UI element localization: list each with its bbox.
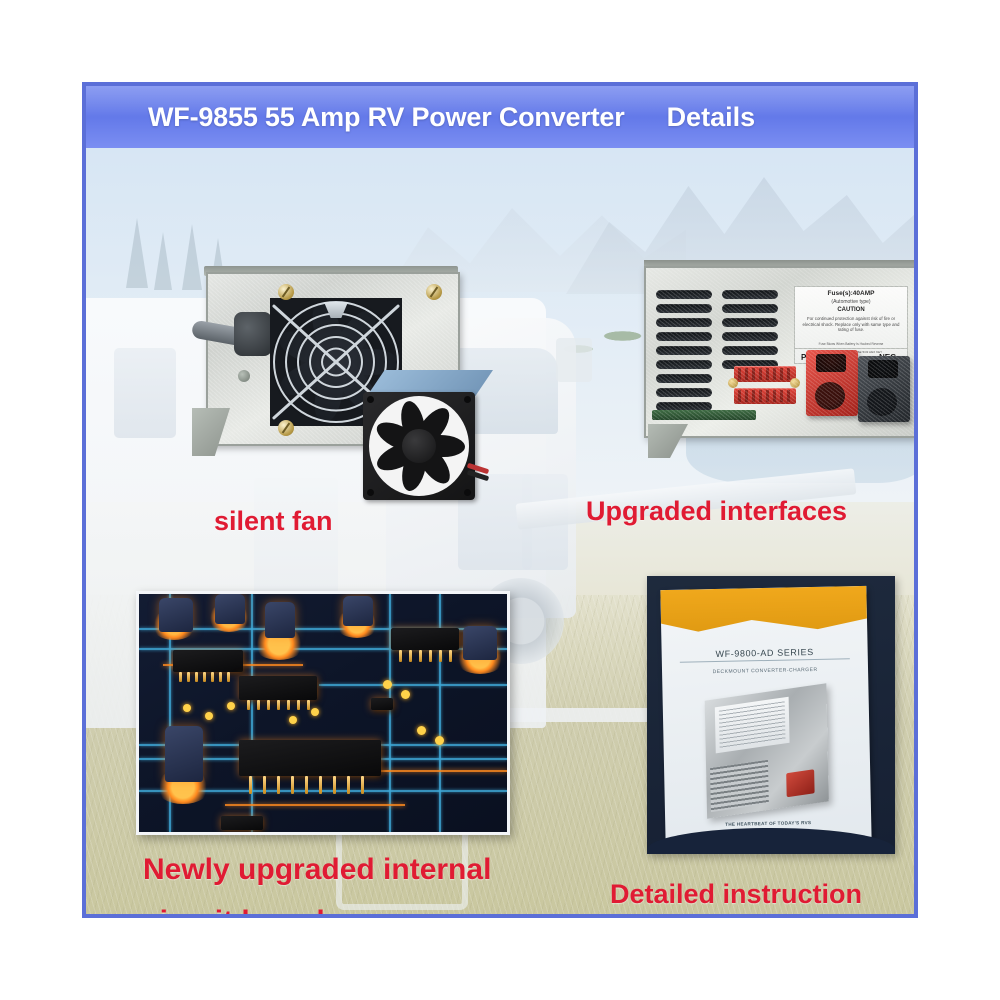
vent-slot — [722, 346, 778, 355]
manual-product-vents — [710, 760, 769, 812]
fuse-block — [734, 388, 796, 404]
fan-hub — [402, 429, 436, 463]
fan-screw-hole — [367, 489, 374, 496]
manual-product-image — [705, 683, 829, 819]
pcb-pin — [249, 776, 252, 794]
caution-body-text: For continued protection against risk of… — [800, 316, 902, 333]
manual-header-band — [660, 586, 867, 634]
terminal-top-opening — [868, 360, 898, 378]
pcb-chip — [239, 740, 381, 776]
pcb-pin — [347, 776, 350, 794]
pcb-pin — [361, 776, 364, 794]
pcb-capacitor — [159, 598, 193, 632]
pcb-pin — [219, 672, 222, 682]
pcb-pad — [289, 716, 297, 724]
pcb-pin — [203, 672, 206, 682]
vent-slot — [656, 388, 712, 397]
vent-slot — [656, 346, 712, 355]
pcb-pin — [277, 700, 280, 710]
header-sheen — [86, 86, 914, 117]
pcb-pin — [267, 700, 270, 710]
pcb-pin — [449, 650, 452, 662]
pcb-pad — [205, 712, 213, 720]
screw — [278, 420, 294, 436]
fan-rotor — [369, 396, 469, 496]
vent-slot — [722, 318, 778, 327]
vent-slot — [656, 374, 712, 383]
fuse-type-text: (Automotive type) — [795, 299, 907, 305]
indicator-dot — [238, 370, 250, 382]
fan-screw-hole — [367, 396, 374, 403]
pcb-pin — [333, 776, 336, 794]
terminal-lug-opening — [815, 382, 845, 410]
pcb-pin — [211, 672, 214, 682]
terminal-lug-opening — [867, 388, 897, 416]
fuse-terminal-screw — [790, 378, 800, 388]
cord-grommet — [234, 312, 272, 356]
pcb-pin — [419, 650, 422, 662]
mounting-bracket — [648, 424, 688, 458]
silent-fan-photo — [363, 370, 493, 502]
vent-slot — [722, 360, 778, 369]
pcb-chip — [371, 698, 393, 710]
fuse-fine-print: Fuse Blows When Battery Is Hooked Revers… — [795, 342, 907, 346]
positive-terminal — [806, 350, 858, 416]
vent-slot — [722, 290, 778, 299]
pcb-pin — [195, 672, 198, 682]
pos-terminal-label: POS+ — [801, 353, 823, 362]
pcb-pin — [187, 672, 190, 682]
ground-strip — [652, 410, 756, 420]
pcb-capacitor — [463, 626, 497, 660]
fuse-rating-text: Fuse(s):40AMP — [795, 290, 907, 297]
pcb-pad — [401, 690, 410, 699]
pcb-chip — [239, 676, 317, 700]
caption-circuit-board-line1: Newly upgraded internal — [143, 853, 491, 887]
manual-tagline: THE HEARTBEAT OF TODAY'S RVS — [665, 819, 871, 828]
spec-label: Fuse(s):40AMP (Automotive type) CAUTION … — [794, 286, 908, 364]
manual-product-terminal — [786, 769, 814, 797]
pcb-pin — [429, 650, 432, 662]
caution-text: CAUTION — [795, 307, 907, 313]
caption-circuit-board-line2: circuit board — [143, 905, 325, 918]
vent-slot — [656, 318, 712, 327]
pcb-pin — [277, 776, 280, 794]
caption-silent-fan: silent fan — [214, 506, 333, 537]
vent-column — [656, 290, 712, 428]
vent-slot — [722, 332, 778, 341]
manual-cover: WF-9800-AD SERIES DECKMOUNT CONVERTER-CH… — [660, 586, 871, 846]
pcb-pin — [409, 650, 412, 662]
pcb-pin — [305, 776, 308, 794]
pcb-chip — [173, 650, 243, 672]
pcb-pin — [307, 700, 310, 710]
content-frame: WF-9855 55 Amp RV Power Converter Detail… — [82, 82, 918, 918]
pcb-pin — [319, 776, 322, 794]
pcb-pad — [183, 704, 191, 712]
pcb-pin — [227, 672, 230, 682]
pcb-trace — [251, 594, 253, 832]
vent-slot — [656, 332, 712, 341]
header-banner: WF-9855 55 Amp RV Power Converter Detail… — [86, 86, 914, 148]
pcb-capacitor — [265, 602, 295, 638]
fan-screw-hole — [464, 489, 471, 496]
fan-screw-hole — [464, 396, 471, 403]
pcb-chip — [221, 816, 263, 830]
vent-slot — [722, 304, 778, 313]
pcb-pad — [417, 726, 426, 735]
instruction-manual-photo: WF-9800-AD SERIES DECKMOUNT CONVERTER-CH… — [647, 576, 895, 854]
caption-upgraded-interfaces: Upgraded interfaces — [586, 496, 847, 527]
pcb-trace — [319, 684, 507, 686]
screw — [426, 284, 442, 300]
pcb-capacitor — [343, 596, 373, 626]
fuse-terminal-screw — [728, 378, 738, 388]
pcb-pad — [227, 702, 235, 710]
torque-spec-text: MAX TORQUE 40 IN-LBS USE 5/32 HEX KEY — [795, 348, 907, 354]
pcb-pad — [383, 680, 392, 689]
rv-window — [114, 348, 176, 438]
pcb-pin — [439, 650, 442, 662]
pcb-trace — [225, 804, 405, 806]
background-scene: Fuse(s):40AMP (Automotive type) CAUTION … — [86, 148, 914, 918]
manual-subtitle: DECKMOUNT CONVERTER-CHARGER — [662, 666, 868, 676]
pcb-pin — [291, 776, 294, 794]
pcb-pin — [179, 672, 182, 682]
vent-slot — [656, 360, 712, 369]
converter-housing: Fuse(s):40AMP (Automotive type) CAUTION … — [644, 266, 914, 438]
vent-slot — [656, 304, 712, 313]
pcb-capacitor — [215, 594, 245, 624]
terminal-top-opening — [816, 354, 846, 372]
fan-frame — [363, 392, 475, 500]
vent-slot — [656, 402, 712, 411]
vent-column — [722, 290, 778, 428]
manual-product-label — [715, 697, 790, 754]
pcb-pin — [247, 700, 250, 710]
pcb-pin — [263, 776, 266, 794]
pcb-capacitor — [165, 726, 203, 782]
infographic-canvas: WF-9855 55 Amp RV Power Converter Detail… — [0, 0, 1000, 1000]
fuse-block — [734, 366, 796, 382]
screw — [278, 284, 294, 300]
pcb-pin — [297, 700, 300, 710]
pcb-pad — [311, 708, 319, 716]
circuit-board-photo — [136, 591, 510, 835]
pcb-chip — [391, 628, 459, 650]
pcb-pin — [399, 650, 402, 662]
pcb-pad — [435, 736, 444, 745]
neg-terminal-label: NEG- — [879, 353, 899, 362]
converter-rear-photo: Fuse(s):40AMP (Automotive type) CAUTION … — [644, 256, 914, 456]
rv-mirror — [556, 338, 592, 382]
caption-manual-line1: Detailed instruction — [610, 879, 862, 910]
negative-terminal — [858, 356, 910, 422]
pcb-pin — [257, 700, 260, 710]
pcb-pin — [287, 700, 290, 710]
vent-slot — [656, 290, 712, 299]
